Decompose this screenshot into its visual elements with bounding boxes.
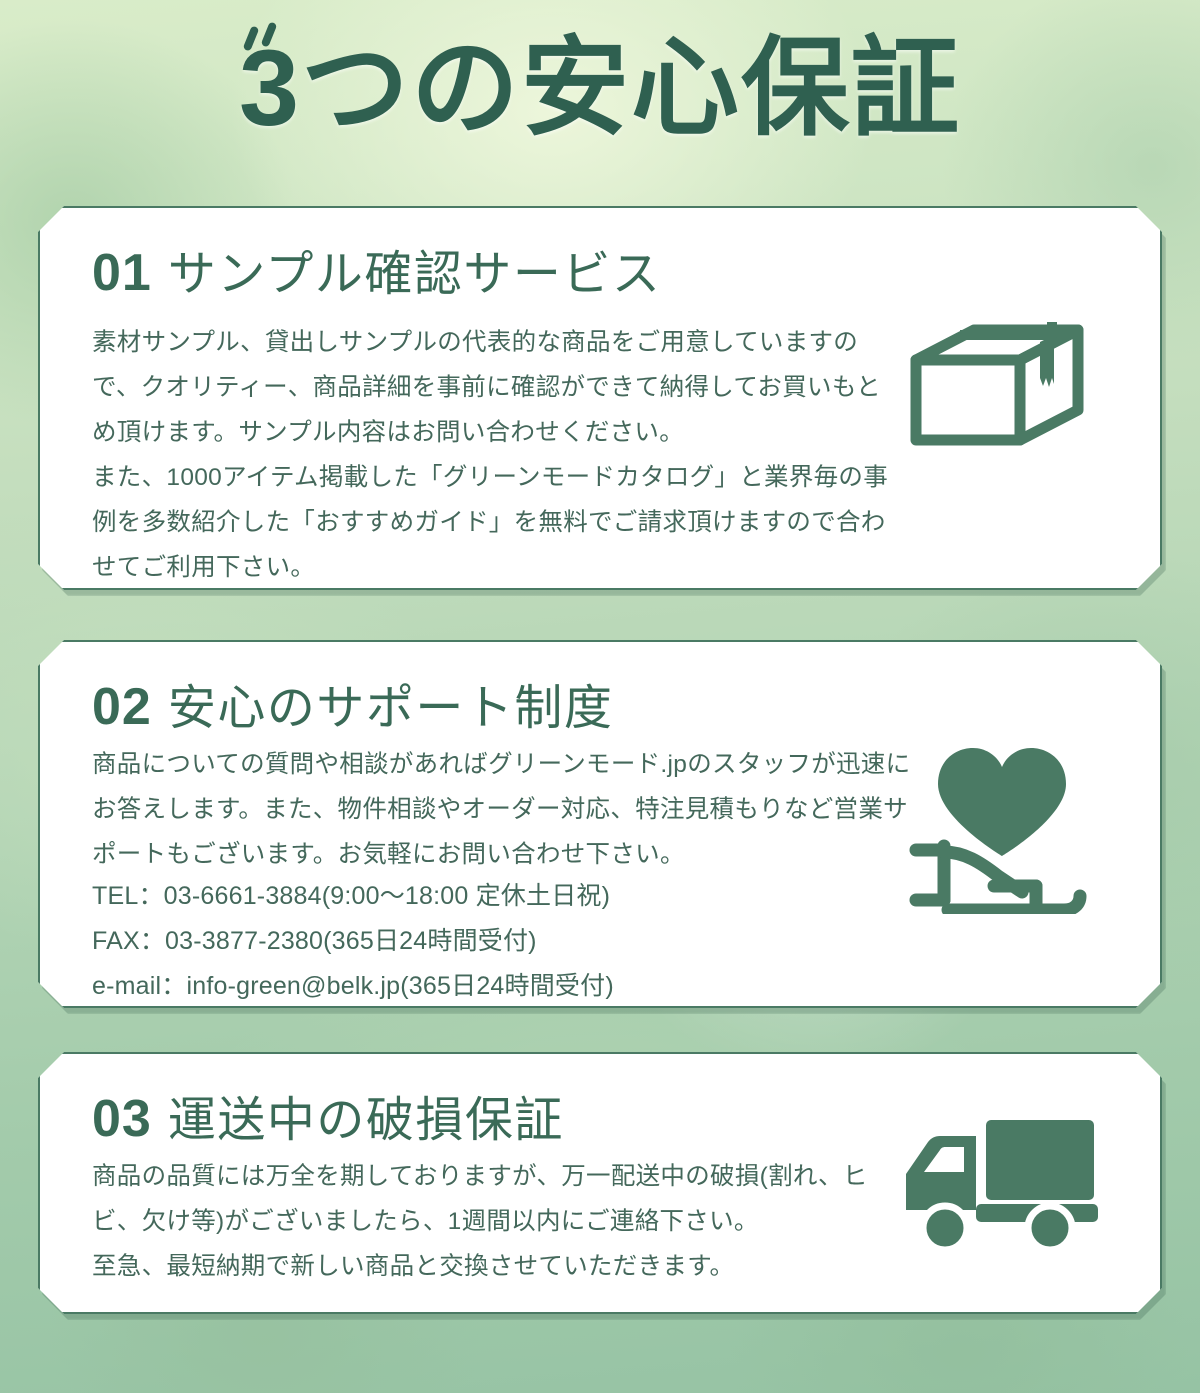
card-heading: 01 サンプル確認サービス bbox=[92, 234, 661, 304]
page-title-wrapper: 3つの安心保証 bbox=[0, 24, 1200, 151]
card-number: 01 bbox=[92, 243, 152, 303]
heart-in-hand-icon bbox=[902, 734, 1102, 919]
card-body-text: 商品についての質問や相談があればグリーンモード.jpのスタッフが迅速にお答えしま… bbox=[92, 742, 922, 877]
card-body-text: 素材サンプル、貸出しサンプルの代表的な商品をご用意していますので、クオリティー、… bbox=[92, 320, 892, 590]
card-heading: 03 運送中の破損保証 bbox=[92, 1080, 564, 1150]
card-heading: 02 安心のサポート制度 bbox=[92, 668, 613, 738]
cardboard-box-icon bbox=[902, 312, 1112, 477]
guarantee-card-03: 03 運送中の破損保証 商品の品質には万全を期しておりますが、万一配送中の破損(… bbox=[38, 1052, 1162, 1314]
card-title: 安心のサポート制度 bbox=[168, 668, 614, 738]
promo-page: 3つの安心保証 01 サンプル確認サービス 素材サンプル、貸出しサンプルの代表的… bbox=[0, 0, 1200, 1393]
contact-details: TEL：03-6661-3884(9:00〜18:00 定休土日祝) FAX：0… bbox=[92, 874, 614, 1009]
guarantee-card-01: 01 サンプル確認サービス 素材サンプル、貸出しサンプルの代表的な商品をご用意し… bbox=[38, 206, 1162, 590]
page-title-text: 3つの安心保証 bbox=[239, 27, 961, 148]
card-body-text: 商品の品質には万全を期しておりますが、万一配送中の破損(割れ、ヒビ、欠け等)がご… bbox=[92, 1154, 892, 1289]
emphasis-marks-icon bbox=[245, 22, 291, 56]
delivery-truck-icon bbox=[898, 1110, 1108, 1265]
guarantee-card-02: 02 安心のサポート制度 商品についての質問や相談があればグリーンモード.jpの… bbox=[38, 640, 1162, 1008]
card-number: 03 bbox=[92, 1089, 152, 1149]
card-number: 02 bbox=[92, 677, 152, 737]
card-title: 運送中の破損保証 bbox=[168, 1080, 564, 1150]
page-title: 3つの安心保証 bbox=[239, 24, 961, 151]
card-title: サンプル確認サービス bbox=[168, 234, 662, 304]
